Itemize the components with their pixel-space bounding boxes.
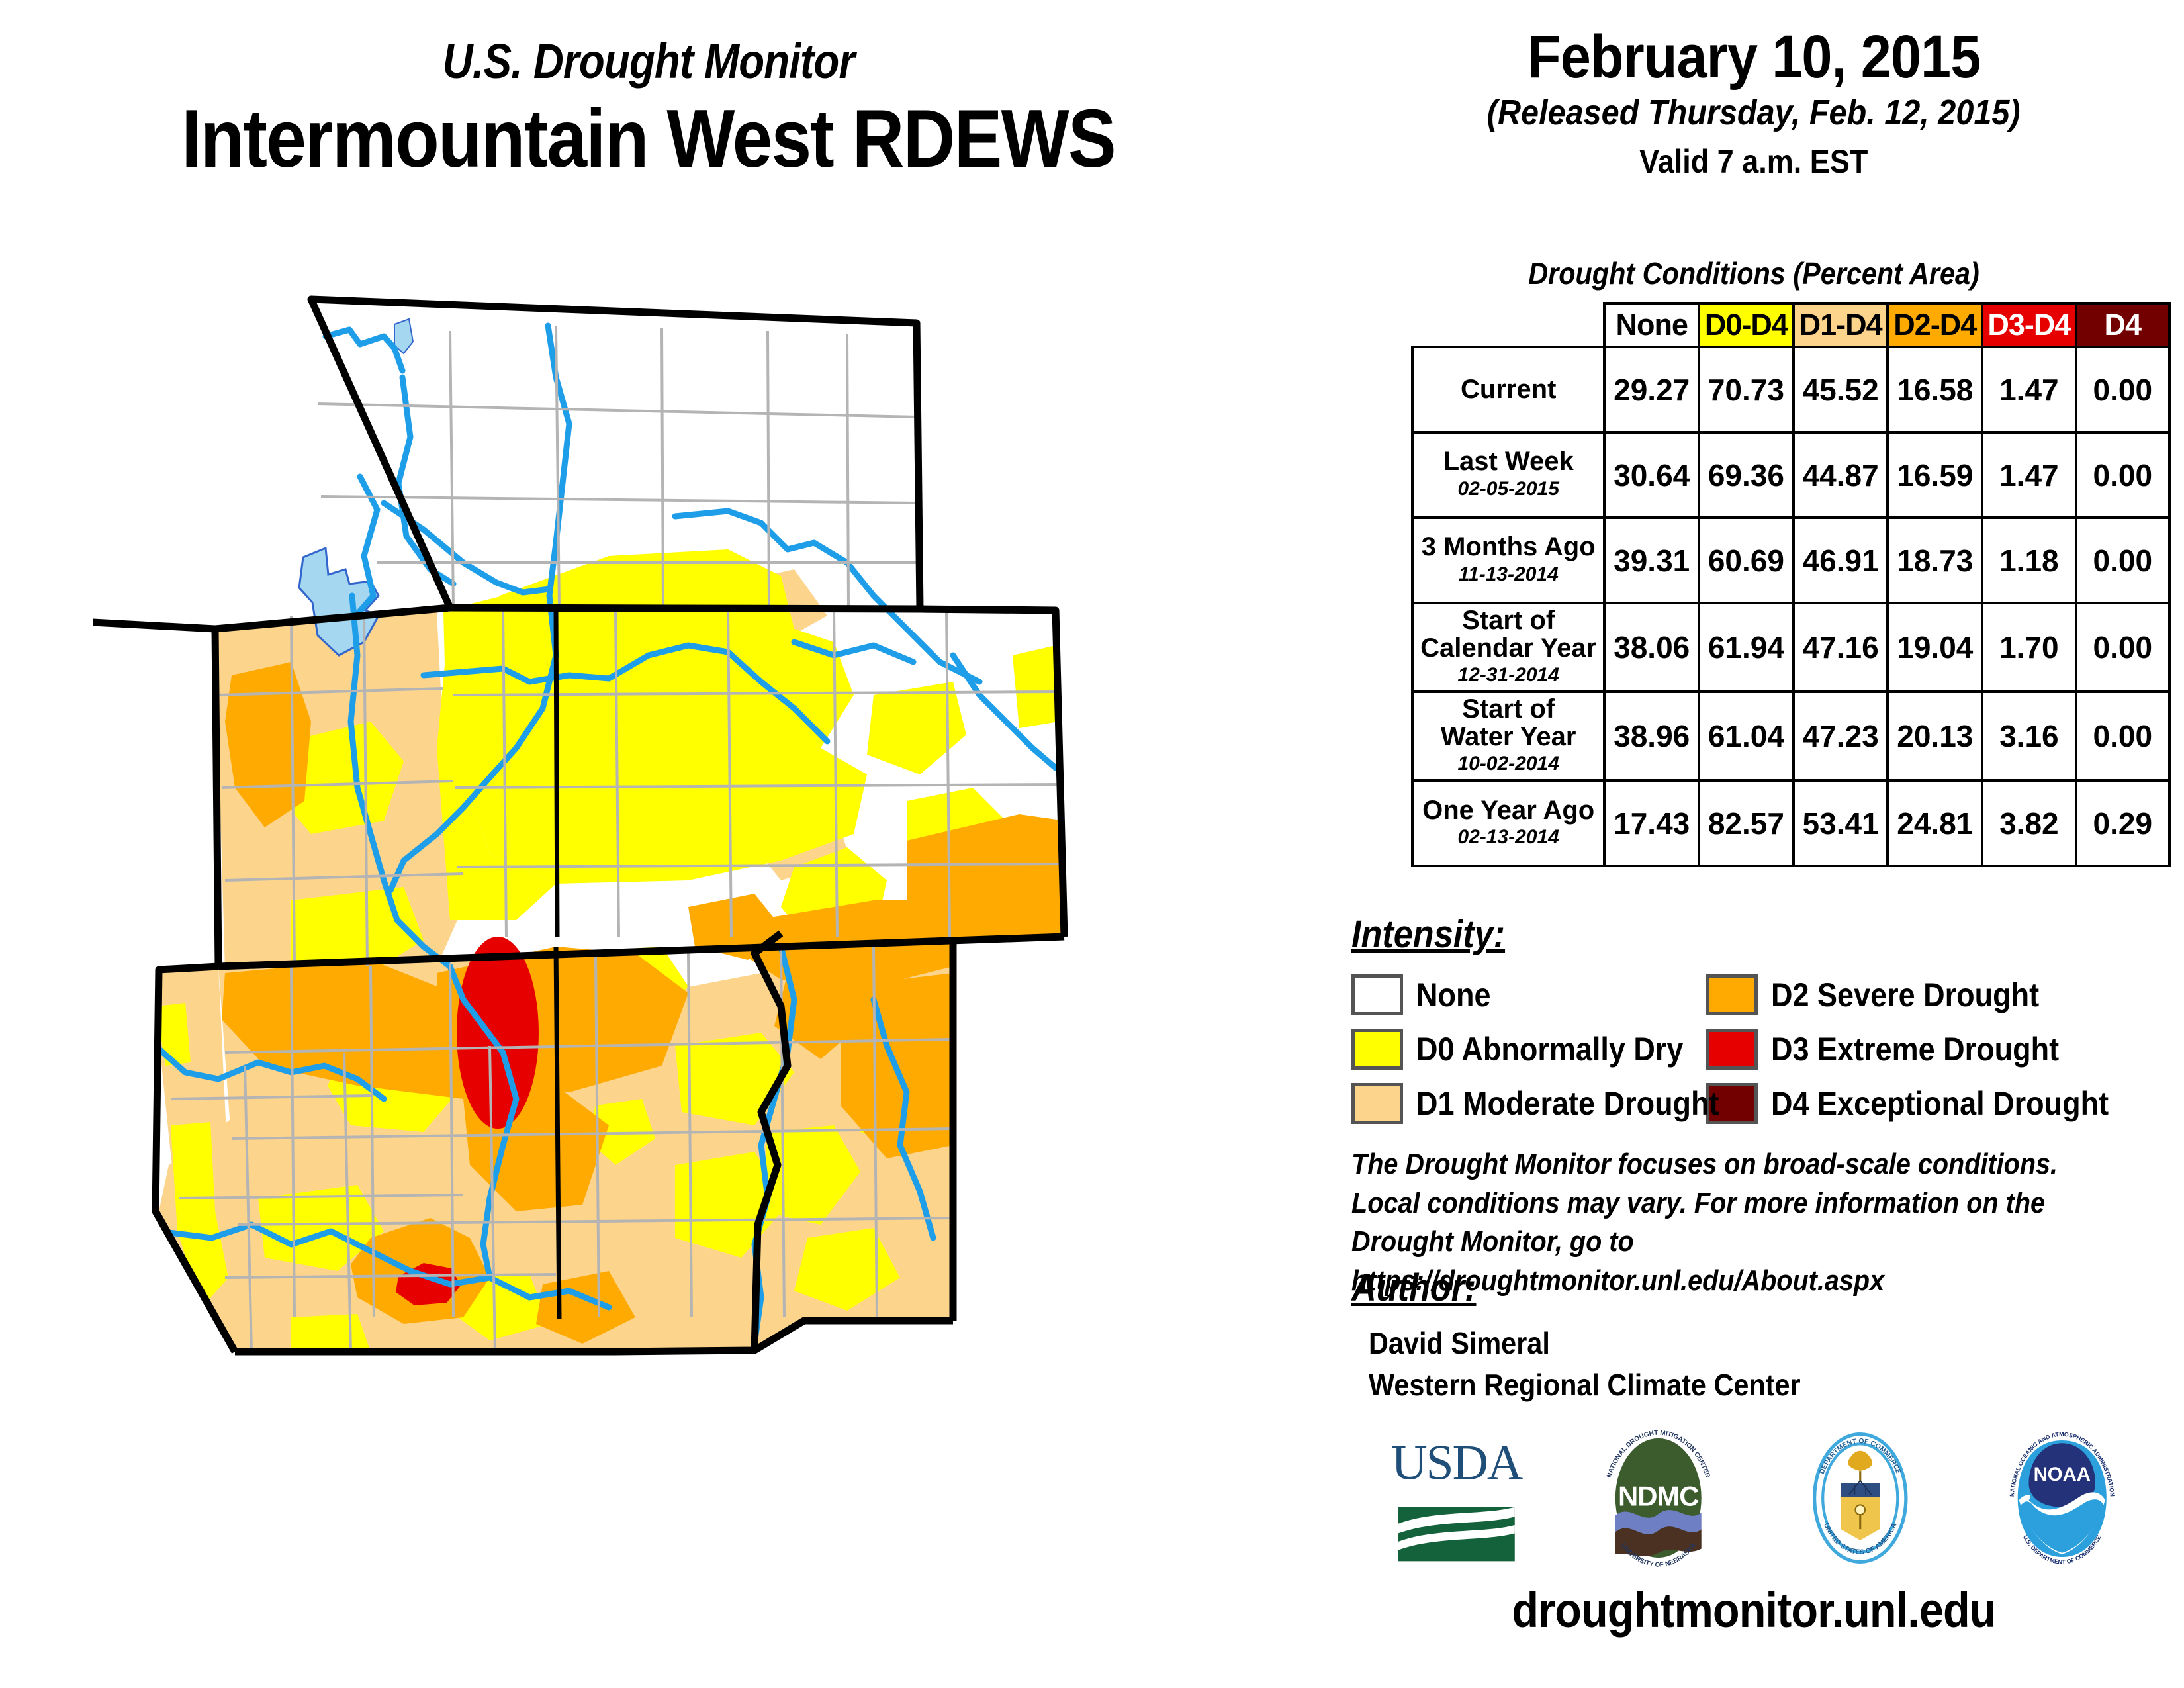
cell-wy-d1d4: 47.23 — [1794, 692, 1888, 780]
cell-current-d4: 0.00 — [2076, 347, 2169, 432]
cell-cy-d2d4: 19.04 — [1888, 603, 1982, 692]
svg-text:USDA: USDA — [1391, 1436, 1523, 1491]
noaa-logo: NOAA NATIONAL OCEANIC AND ATMOSPHERIC AD… — [1993, 1425, 2132, 1571]
author-heading: Author: — [1351, 1266, 1476, 1310]
cell-wy-none: 38.96 — [1604, 692, 1699, 780]
table-row: One Year Ago 02-13-2014 17.43 82.57 53.4… — [1412, 780, 2169, 866]
cell-cy-d0d4: 61.94 — [1699, 603, 1794, 692]
cell-cy-d3d4: 1.70 — [1982, 603, 2075, 692]
col-header-d0d4: D0-D4 — [1699, 303, 1794, 347]
legend-item-d0: D0 Abnormally Dry — [1351, 1029, 1706, 1070]
cell-wy-d3d4: 3.16 — [1982, 692, 2075, 780]
svg-text:NDMC: NDMC — [1618, 1481, 1699, 1512]
legend-row: D0 Abnormally Dry D3 Extreme Drought — [1351, 1022, 2179, 1076]
disclaimer-line-1: The Drought Monitor focuses on broad-sca… — [1351, 1145, 2096, 1184]
row-label-3-months-ago: 3 Months Ago 11-13-2014 — [1412, 518, 1604, 603]
cell-lastweek-d2d4: 16.59 — [1888, 432, 1982, 518]
legend-item-d3: D3 Extreme Drought — [1706, 1029, 2091, 1070]
table-row: Last Week 02-05-2015 30.64 69.36 44.87 1… — [1412, 432, 2169, 518]
row-label-line2: Calendar Year — [1418, 635, 1599, 663]
cell-lastweek-d1d4: 44.87 — [1794, 432, 1888, 518]
author-name: David Simeral — [1369, 1323, 1801, 1364]
drought-map[interactable] — [93, 285, 1231, 1602]
usda-logo: USDA — [1387, 1425, 1526, 1571]
swatch-d2-icon — [1706, 974, 1758, 1015]
cell-lastweek-d0d4: 69.36 — [1699, 432, 1794, 518]
cell-1yr-d1d4: 53.41 — [1794, 780, 1888, 866]
row-label-current: Current — [1412, 347, 1604, 432]
title-block: U.S. Drought Monitor Intermountain West … — [0, 33, 1297, 186]
svg-text:NOAA: NOAA — [2033, 1464, 2090, 1485]
swatch-d3-icon — [1706, 1029, 1758, 1070]
cell-cy-d1d4: 47.16 — [1794, 603, 1888, 692]
cell-cy-none: 38.06 — [1604, 603, 1699, 692]
row-label-line1: Start of — [1418, 696, 1599, 724]
row-label-start-calendar-year: Start of Calendar Year 12-31-2014 — [1412, 603, 1604, 692]
cell-wy-d2d4: 20.13 — [1888, 692, 1982, 780]
report-date: February 10, 2015 — [1527, 26, 1980, 89]
cell-3mo-d3d4: 1.18 — [1982, 518, 2075, 603]
cell-current-d2d4: 16.58 — [1888, 347, 1982, 432]
cell-wy-d0d4: 61.04 — [1699, 692, 1794, 780]
date-block: February 10, 2015 (Released Thursday, Fe… — [1324, 26, 2184, 181]
row-label-last-week: Last Week 02-05-2015 — [1412, 432, 1604, 518]
table-row: Start of Water Year 10-02-2014 38.96 61.… — [1412, 692, 2169, 780]
cell-1yr-d4: 0.29 — [2076, 780, 2169, 866]
cell-3mo-d0d4: 60.69 — [1699, 518, 1794, 603]
map-panel: U.S. Drought Monitor Intermountain West … — [0, 0, 1324, 1688]
corner-cell — [1412, 303, 1604, 347]
col-header-d4: D4 — [2076, 303, 2169, 347]
row-label-start-water-year: Start of Water Year 10-02-2014 — [1412, 692, 1604, 780]
table-header-row: None D0-D4 D1-D4 D2-D4 D3-D4 D4 — [1412, 303, 2169, 347]
legend-item-d1: D1 Moderate Drought — [1351, 1083, 1706, 1124]
row-label-line1: Start of — [1418, 607, 1599, 635]
cell-current-d3d4: 1.47 — [1982, 347, 2075, 432]
cell-1yr-none: 17.43 — [1604, 780, 1699, 866]
cell-1yr-d3d4: 3.82 — [1982, 780, 2075, 866]
table-row: 3 Months Ago 11-13-2014 39.31 60.69 46.9… — [1412, 518, 2169, 603]
swatch-d0-icon — [1351, 1029, 1403, 1070]
col-header-d3d4: D3-D4 — [1982, 303, 2075, 347]
supertitle: U.S. Drought Monitor — [443, 33, 855, 89]
cell-3mo-d2d4: 18.73 — [1888, 518, 1982, 603]
col-header-d2d4: D2-D4 — [1888, 303, 1982, 347]
cell-3mo-d4: 0.00 — [2076, 518, 2169, 603]
cell-cy-d4: 0.00 — [2076, 603, 2169, 692]
disclaimer-line-2: Local conditions may vary. For more info… — [1351, 1184, 2096, 1223]
legend-row: None D2 Severe Drought — [1351, 968, 2179, 1022]
cell-lastweek-d3d4: 1.47 — [1982, 432, 2075, 518]
valid-time: Valid 7 a.m. EST — [1639, 142, 1868, 181]
agency-logos: USDA NDMC NATIONAL DROUGHT MITIGATION CE… — [1355, 1422, 2163, 1574]
swatch-d1-icon — [1351, 1083, 1403, 1124]
table-caption: Drought Conditions (Percent Area) — [1367, 256, 2141, 291]
author-info: David Simeral Western Regional Climate C… — [1369, 1323, 1801, 1405]
cell-lastweek-d4: 0.00 — [2076, 432, 2169, 518]
cell-1yr-d0d4: 82.57 — [1699, 780, 1794, 866]
cell-1yr-d2d4: 24.81 — [1888, 780, 1982, 866]
release-date: (Released Thursday, Feb. 12, 2015) — [1487, 94, 2021, 132]
doc-seal-logo: DEPARTMENT OF COMMERCE UNITED STATES OF … — [1791, 1425, 1930, 1571]
intensity-legend: None D2 Severe Drought D0 Abnormally Dry… — [1351, 968, 2179, 1131]
cell-wy-d4: 0.00 — [2076, 692, 2169, 780]
cell-lastweek-none: 30.64 — [1604, 432, 1699, 518]
ndmc-logo: NDMC NATIONAL DROUGHT MITIGATION CENTER … — [1589, 1425, 1728, 1571]
drought-conditions-table: None D0-D4 D1-D4 D2-D4 D3-D4 D4 Current … — [1411, 302, 2171, 867]
legend-item-d2: D2 Severe Drought — [1706, 974, 2069, 1015]
cell-current-d1d4: 45.52 — [1794, 347, 1888, 432]
row-label-line2: Water Year — [1418, 724, 1599, 751]
row-label-one-year-ago: One Year Ago 02-13-2014 — [1412, 780, 1604, 866]
table-row: Start of Calendar Year 12-31-2014 38.06 … — [1412, 603, 2169, 692]
legend-item-none: None — [1351, 974, 1706, 1015]
cell-current-none: 29.27 — [1604, 347, 1699, 432]
legend-row: D1 Moderate Drought D4 Exceptional Droug… — [1351, 1076, 2179, 1131]
info-panel: February 10, 2015 (Released Thursday, Fe… — [1324, 0, 2184, 1688]
cell-3mo-none: 39.31 — [1604, 518, 1699, 603]
author-affiliation: Western Regional Climate Center — [1369, 1364, 1801, 1406]
col-header-none: None — [1604, 303, 1699, 347]
site-url[interactable]: droughtmonitor.unl.edu — [1367, 1582, 2141, 1638]
table-row: Current 29.27 70.73 45.52 16.58 1.47 0.0… — [1412, 347, 2169, 432]
legend-item-d4: D4 Exceptional Drought — [1706, 1083, 2146, 1124]
cell-3mo-d1d4: 46.91 — [1794, 518, 1888, 603]
swatch-none-icon — [1351, 974, 1403, 1015]
page-title: Intermountain West RDEWS — [182, 92, 1116, 186]
col-header-d1d4: D1-D4 — [1794, 303, 1888, 347]
intensity-heading: Intensity: — [1351, 912, 1505, 957]
cell-current-d0d4: 70.73 — [1699, 347, 1794, 432]
